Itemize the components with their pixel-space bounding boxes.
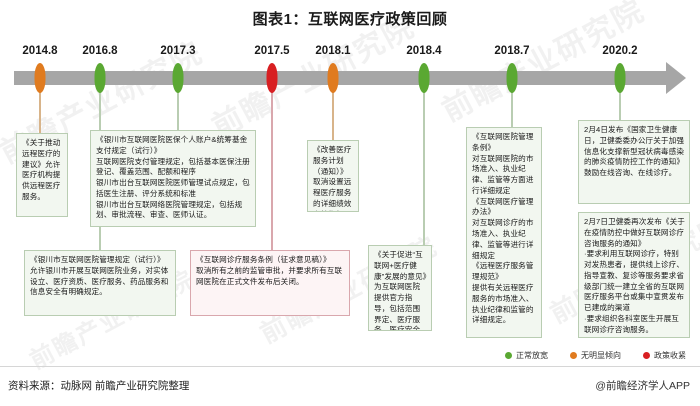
timeline-date-2018-4: 2018.4 <box>406 45 441 57</box>
connector-stem <box>271 85 273 250</box>
timeline-date-2017-3: 2017.3 <box>160 45 195 57</box>
timeline-marker-2018-1[interactable] <box>328 63 339 93</box>
timeline-arrow-icon <box>666 62 686 94</box>
policy-heading: 2月4日发布《国家卫生健康日，卫健委委办公厅关于加强信息化支撑新型冠状病毒感染的… <box>584 125 685 168</box>
policy-text: 《关于推动远程医疗的建议》允许医疗机构提供远程医疗服务。 <box>22 138 63 203</box>
timeline-date-2017-5: 2017.5 <box>254 45 289 57</box>
policy-box-2020-2-bottom[interactable]: 2月7日卫健委再次发布《关于在疫情防控中做好互联网诊疗咨询服务的通知》 ·要求利… <box>578 212 690 338</box>
policy-text: 为互联网医院提供官方指导，包括范围界定、医疗服务、医疗安全等。 <box>374 282 427 331</box>
legend-label: 正常放宽 <box>516 350 548 361</box>
policy-text: 鼓励在线咨询、在线诊疗。 <box>584 168 685 179</box>
legend-item-neutral: 无明显倾向 <box>570 350 621 361</box>
connector-stem <box>332 85 334 140</box>
policy-heading: 《互联网医院管理条例》 <box>472 132 537 154</box>
timeline-date-2020-2: 2020.2 <box>602 45 637 57</box>
timeline-marker-2018-7[interactable] <box>507 63 518 93</box>
source-note: 资料来源：动脉网 前瞻产业研究院整理 <box>8 378 189 393</box>
policy-text: 对互联网医院的市场准入、执业纪律、监管等方面进行详细规定 <box>472 154 537 197</box>
timeline-marker-2014-8[interactable] <box>35 63 46 93</box>
policy-text: 《银川市互联网医院管理规定（试行）》允许银川市开展互联网医院业务，对实体设立、医… <box>30 255 171 298</box>
chart-title: 图表1：互联网医疗政策回顾 <box>0 8 700 29</box>
policy-heading: 《关于促进“互联网+医疗健康”发展的意见》 <box>374 250 427 282</box>
legend-item-relaxed: 正常放宽 <box>505 350 548 361</box>
policy-box-2018-7[interactable]: 《互联网医院管理条例》 对互联网医院的市场准入、执业纪律、监管等方面进行详细规定… <box>466 127 542 338</box>
timeline-date-2018-7: 2018.7 <box>494 45 529 57</box>
policy-heading: 《远程医疗服务管理规范》 <box>472 261 537 283</box>
policy-heading: 《互联网医疗管理办法》 <box>472 197 537 219</box>
timeline-marker-2017-5[interactable] <box>267 63 278 93</box>
legend-label: 无明显倾向 <box>581 350 621 361</box>
policy-box-2018-4[interactable]: 《关于促进“互联网+医疗健康”发展的意见》 为互联网医院提供官方指导，包括范围界… <box>368 245 432 331</box>
policy-text: 《改善医疗服务计划（通知）》取消设置远程医疗服务的详细绩效考核指标。 <box>313 145 354 212</box>
legend-item-tightened: 政策收紧 <box>643 350 686 361</box>
policy-text: 对互联网诊疗的市场准入、执业纪律、监管等进行详细规定 <box>472 218 537 261</box>
policy-text: 提供有关远程医疗服务的市场准入、执业纪律和监管的详细规定。 <box>472 283 537 326</box>
brand-credit: @前瞻经济学人APP <box>595 378 690 393</box>
policy-box-2016-8-top[interactable]: 《银川市互联网医院医保个人账户&统筹基金支付规定（试行）》 互联网医院支付管理规… <box>90 130 256 227</box>
policy-text: ·要求组织各科室医生开展互联网诊疗咨询服务。 <box>584 314 685 336</box>
timeline-date-2016-8: 2016.8 <box>82 45 117 57</box>
policy-box-2016-8-bottom[interactable]: 《银川市互联网医院管理规定（试行）》允许银川市开展互联网医院业务，对实体设立、医… <box>24 250 176 316</box>
footer-divider <box>0 366 700 367</box>
timeline-marker-2017-3[interactable] <box>173 63 184 93</box>
timeline-marker-2020-2[interactable] <box>615 63 626 93</box>
policy-box-2020-2-top[interactable]: 2月4日发布《国家卫生健康日，卫健委委办公厅关于加强信息化支撑新型冠状病毒感染的… <box>578 120 690 204</box>
legend-label: 政策收紧 <box>654 350 686 361</box>
policy-text: 银川市出台互联网络医院管理规定，包括规划、审批流程、审查、医师认证。 <box>96 200 251 222</box>
policy-text: 银川市出台互联网医院医师管理试点规定，包括医生注册、评分系统和标准 <box>96 178 251 200</box>
policy-heading: 2月7日卫健委再次发布《关于在疫情防控中做好互联网诊疗咨询服务的通知》 <box>584 217 685 249</box>
legend-dot-red-icon <box>643 352 650 359</box>
policy-box-2018-1[interactable]: 《改善医疗服务计划（通知）》取消设置远程医疗服务的详细绩效考核指标。 <box>307 140 359 212</box>
connector-stem <box>423 85 425 245</box>
timeline-date-2018-1: 2018.1 <box>315 45 350 57</box>
timeline-date-2014-8: 2014.8 <box>22 45 57 57</box>
legend-dot-green-icon <box>505 352 512 359</box>
policy-heading: 《银川市互联网医院医保个人账户&统筹基金支付规定（试行）》 <box>96 135 251 157</box>
policy-box-2017-5[interactable]: 《互联网诊疗服务条例（征求意见稿）》 取消所有之前的监管审批，并要求所有互联网医… <box>190 250 350 316</box>
legend: 正常放宽 无明显倾向 政策收紧 <box>505 350 686 361</box>
legend-dot-orange-icon <box>570 352 577 359</box>
timeline-marker-2018-4[interactable] <box>419 63 430 93</box>
policy-box-2014-8[interactable]: 《关于推动远程医疗的建议》允许医疗机构提供远程医疗服务。 <box>16 133 68 217</box>
policy-text: 互联网医院支付管理规定，包括基本医保注册登记、覆盖范围、配额和程序 <box>96 157 251 179</box>
timeline-axis <box>14 71 666 85</box>
policy-heading: 《互联网诊疗服务条例（征求意见稿）》 <box>196 255 345 266</box>
policy-text: 取消所有之前的监管审批，并要求所有互联网医院在正式文件发布后关闭。 <box>196 266 345 288</box>
policy-text: ·要求利用互联网诊疗，特别对发热患者，提供线上诊疗、指导宣教、复诊等服务要求省级… <box>584 249 685 314</box>
timeline-marker-2016-8[interactable] <box>95 63 106 93</box>
